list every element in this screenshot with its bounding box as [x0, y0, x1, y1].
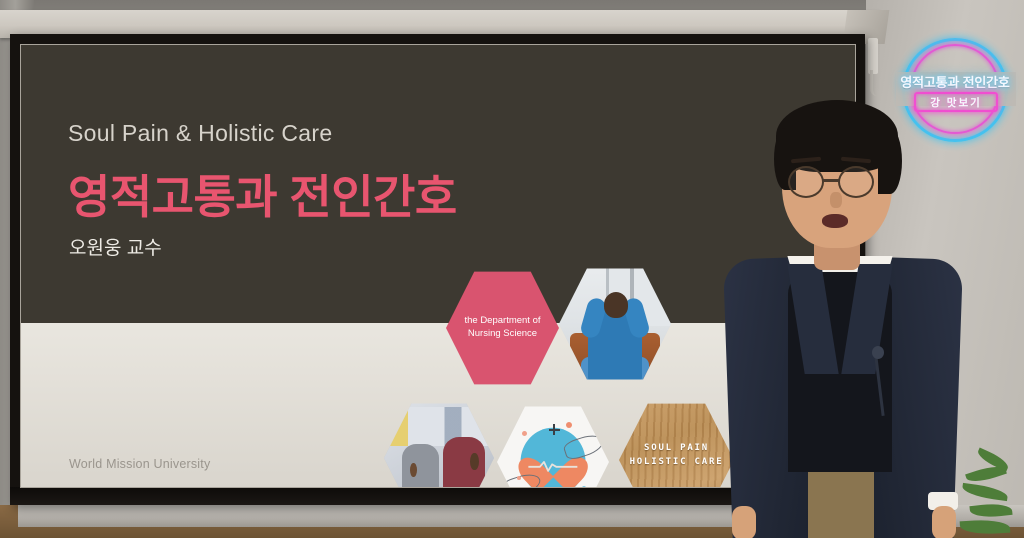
deco-dot-2 [582, 486, 586, 488]
plant-leaf-3 [969, 502, 1012, 519]
comfort-person-gray [402, 444, 439, 488]
hand-right [932, 506, 956, 538]
trousers [808, 470, 874, 538]
hair-side-right [878, 128, 902, 194]
lapel-microphone-icon [872, 346, 884, 359]
comfort-person-maroon-head [470, 453, 478, 470]
presenter [722, 88, 972, 538]
wood-line-1: SOUL PAIN [619, 442, 734, 456]
deco-dot-1 [522, 431, 527, 436]
potted-plant [960, 438, 1024, 538]
eyeglasses-lens-right [838, 166, 874, 198]
nose [830, 192, 842, 208]
eyeglasses-lens-left [788, 166, 824, 198]
dept-line-1: the Department of [464, 315, 540, 328]
photo-head [604, 292, 629, 318]
ecg-line-icon [528, 457, 577, 474]
wall-socket [868, 38, 878, 74]
deco-dot-4 [566, 422, 572, 428]
hexagon-wood-sign: SOUL PAIN HOLISTIC CARE [619, 400, 734, 488]
dept-line-2: Nursing Science [464, 328, 540, 341]
wood-sign-text: SOUL PAIN HOLISTIC CARE [619, 442, 734, 469]
comfort-person-maroon [443, 437, 485, 488]
plant-leaf-5 [960, 519, 1011, 536]
hexagon-department: the Department of Nursing Science [446, 268, 559, 388]
hexagon-heart-illustration [497, 403, 609, 488]
hexagon-stressed-man [559, 265, 671, 383]
eyeglasses-bridge [823, 179, 839, 182]
mouth [822, 214, 848, 228]
hand-left [732, 506, 756, 538]
medical-cross-icon [549, 424, 560, 435]
plant-leaf-2 [961, 483, 1008, 501]
wood-line-2: HOLISTIC CARE [619, 456, 734, 470]
hexagon-comforting-pair [384, 400, 494, 488]
hexagon-department-label: the Department of Nursing Science [455, 315, 549, 341]
comfort-person-gray-head [410, 463, 417, 477]
